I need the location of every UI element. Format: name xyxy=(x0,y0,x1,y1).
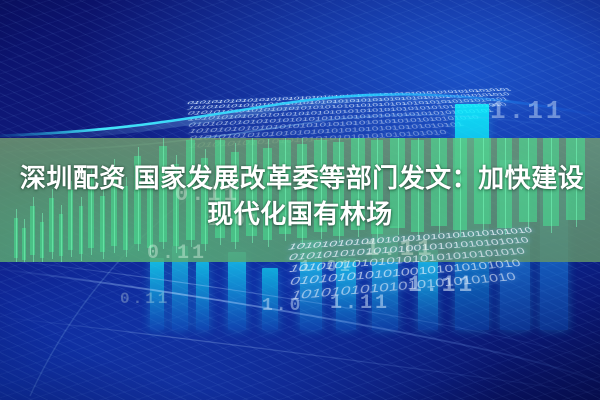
headline-line-2: 现代化国有林场 xyxy=(0,196,600,232)
headline-text: 深圳配资 国家发展改革委等部门发文：加快建设 现代化国有林场 xyxy=(0,160,600,232)
banner-image: 0101010101010101010101010101010101010101… xyxy=(0,0,600,400)
headline-line-1: 深圳配资 国家发展改革委等部门发文：加快建设 xyxy=(0,160,600,196)
